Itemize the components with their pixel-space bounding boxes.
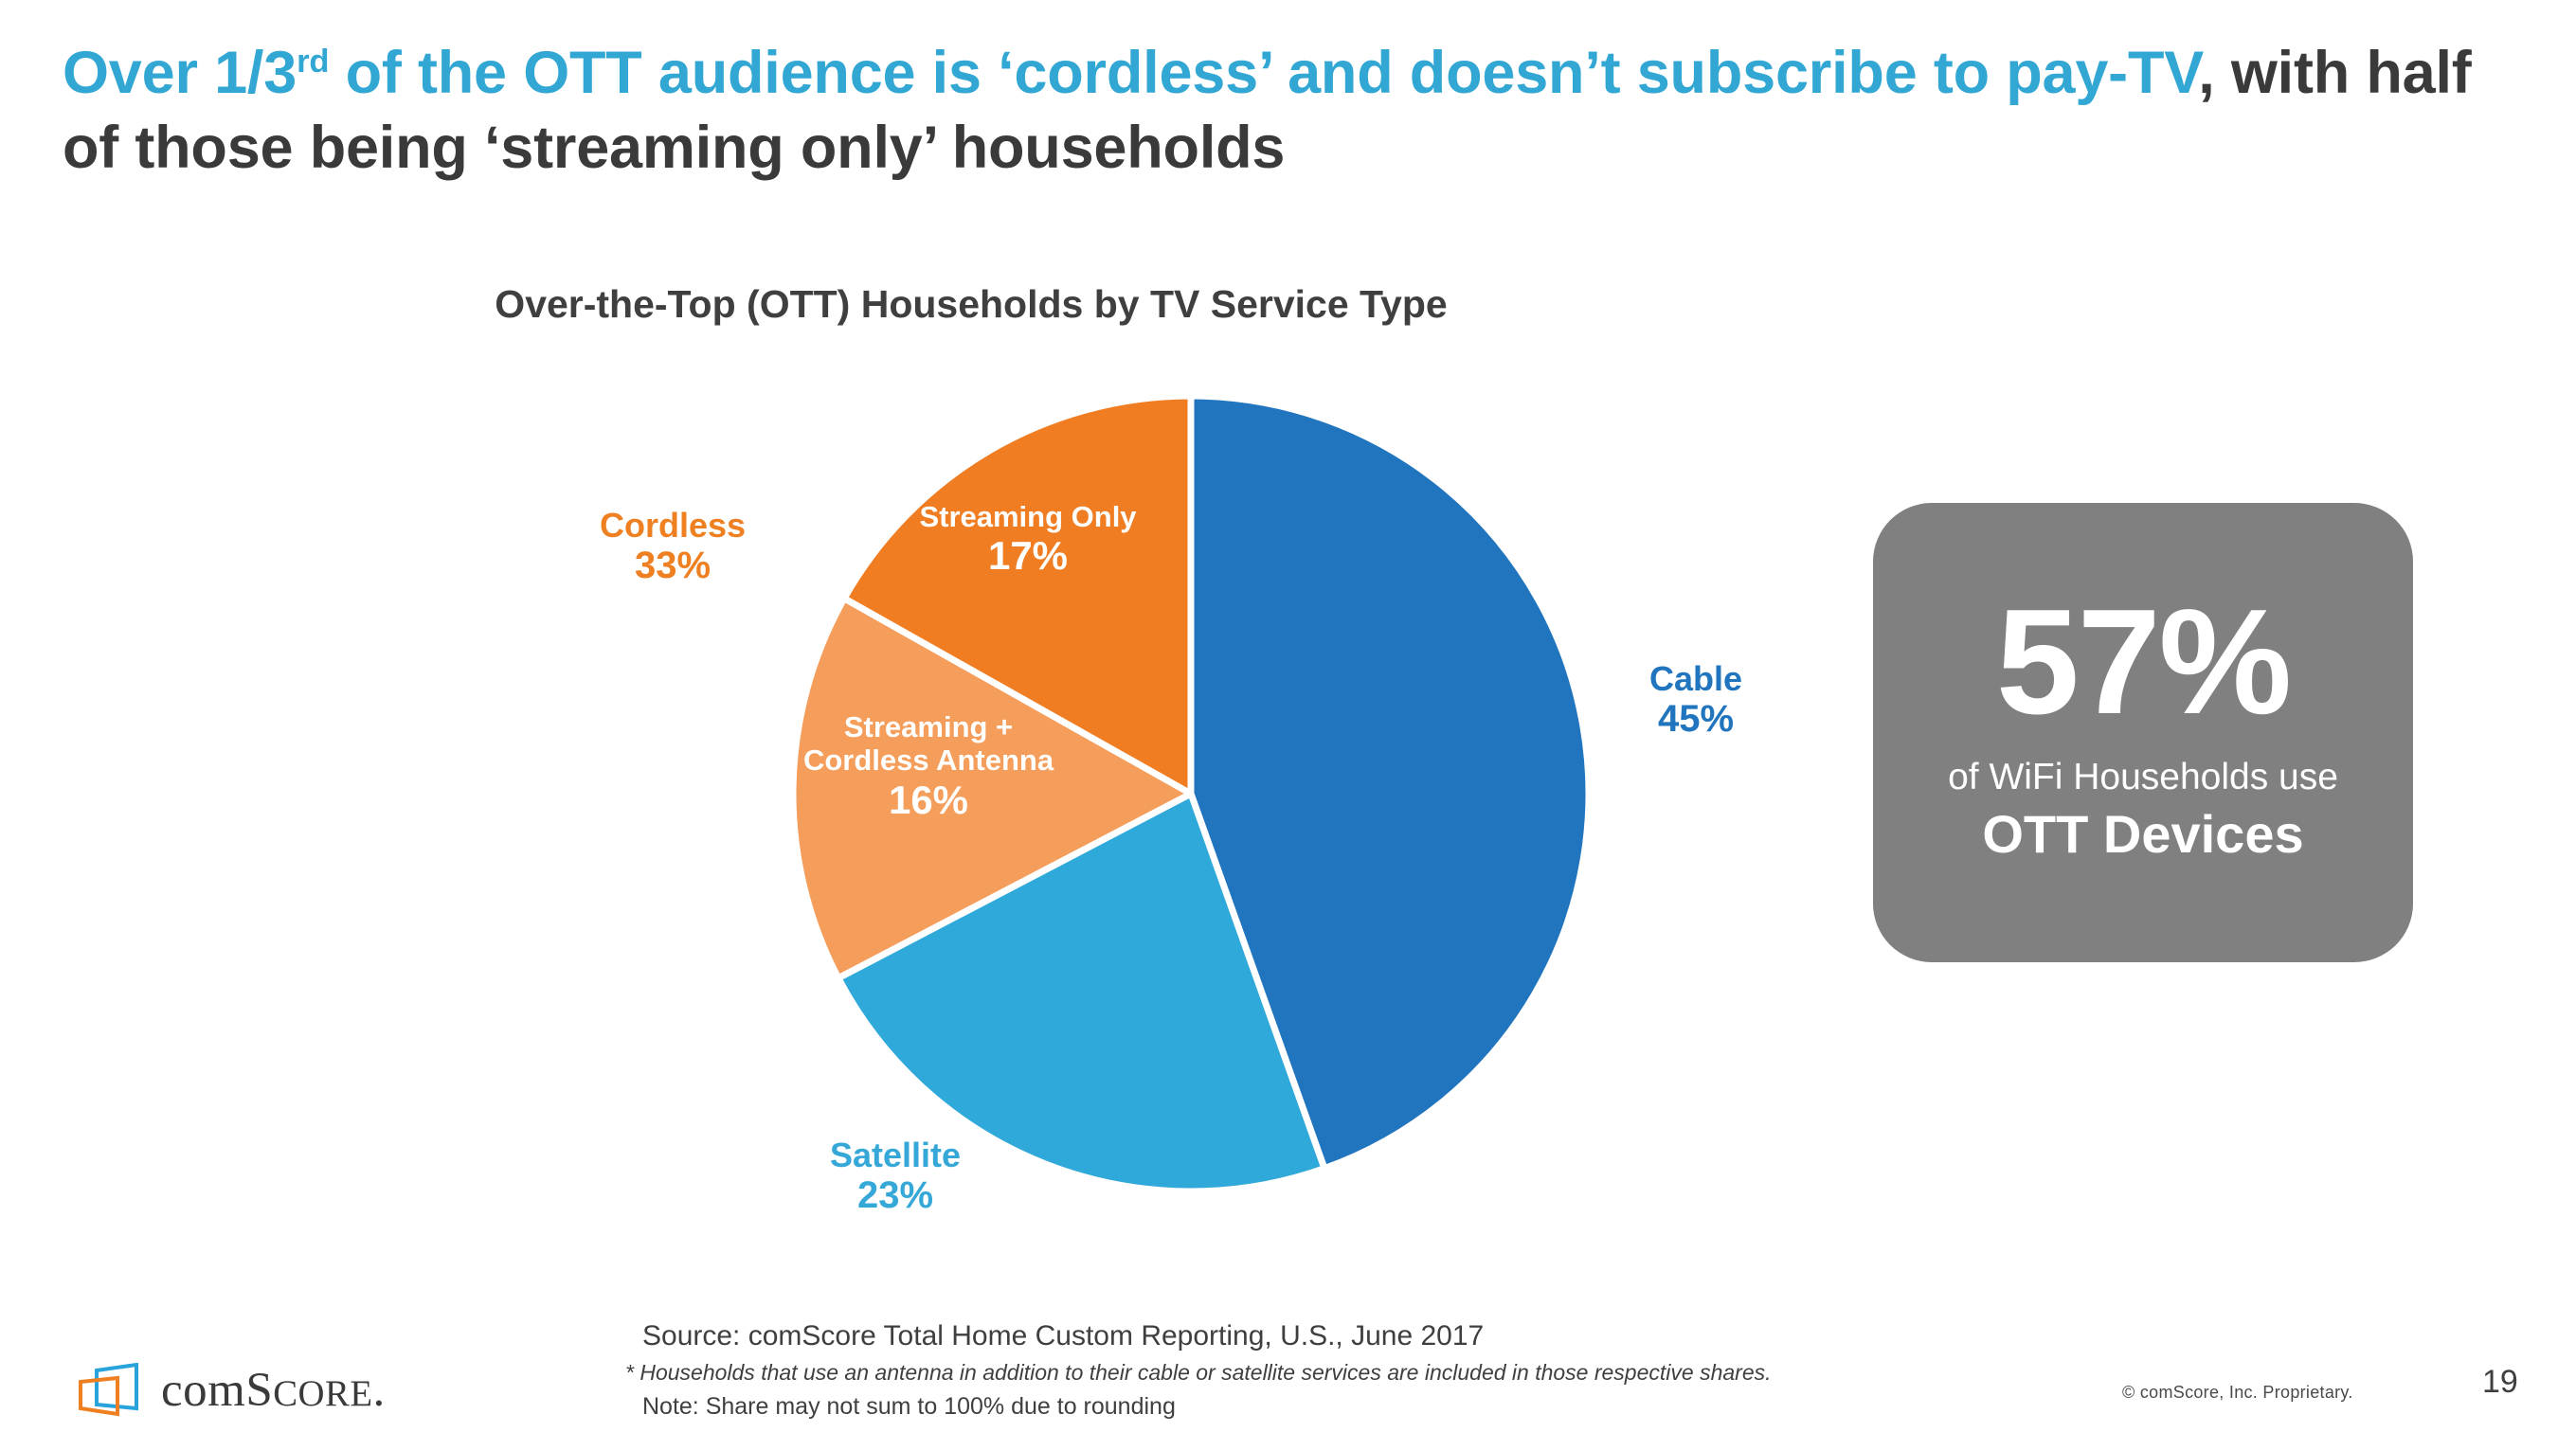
title-highlight-second: of the OTT audience is ‘cordless’ and do… [329, 40, 2006, 106]
comscore-logo-mark-icon [78, 1363, 140, 1418]
title-highlight-paytv: pay-TV [2006, 40, 2198, 106]
page-title: Over 1/3rd of the OTT audience is ‘cordl… [63, 36, 2526, 187]
wordmark-core: CORE [273, 1373, 372, 1414]
pie-annotation-cordless: Cordless 33% [540, 507, 805, 587]
footnote-note: Note: Share may not sum to 100% due to r… [625, 1391, 2046, 1423]
stat-subtitle: of WiFi Households use [1948, 758, 2338, 798]
annotation-name: Cordless [540, 507, 805, 545]
stat-big-number: 57% [1996, 587, 2290, 737]
footnote-asterisk: * Households that use an antenna in addi… [625, 1358, 2046, 1387]
comscore-logo: comSCORE. [78, 1350, 457, 1431]
title-ordinal-suffix: rd [297, 44, 329, 80]
slice-label-name: Cable [1592, 660, 1800, 698]
pie-slice-label-cable: Cable 45% [1592, 660, 1800, 741]
pie-slices [793, 396, 1589, 1191]
footnotes: Source: comScore Total Home Custom Repor… [625, 1318, 2046, 1422]
stat-emphasis: OTT Devices [1982, 804, 2303, 865]
slice-label-value: 45% [1592, 698, 1800, 741]
comscore-wordmark: comSCORE. [161, 1367, 386, 1415]
footnote-source: Source: comScore Total Home Custom Repor… [625, 1318, 2046, 1354]
annotation-value: 33% [540, 545, 805, 587]
wordmark-s: S [245, 1364, 273, 1417]
slice-label-value: 23% [777, 1174, 1014, 1217]
copyright-notice: © comScore, Inc. Proprietary. [2122, 1383, 2353, 1403]
title-highlight-first: Over 1/3 [63, 40, 297, 106]
wordmark-com: com [161, 1364, 245, 1417]
chart-title: Over-the-Top (OTT) Households by TV Serv… [0, 282, 1942, 327]
pie-slice-label-satellite: Satellite 23% [777, 1137, 1014, 1217]
pie-chart-svg [793, 396, 1589, 1191]
wordmark-dot: . [373, 1364, 386, 1417]
slice-label-name: Satellite [777, 1137, 1014, 1174]
pie-chart [793, 396, 1589, 1191]
page-number: 19 [2482, 1364, 2518, 1401]
stat-callout-box: 57% of WiFi Households use OTT Devices [1873, 503, 2413, 962]
